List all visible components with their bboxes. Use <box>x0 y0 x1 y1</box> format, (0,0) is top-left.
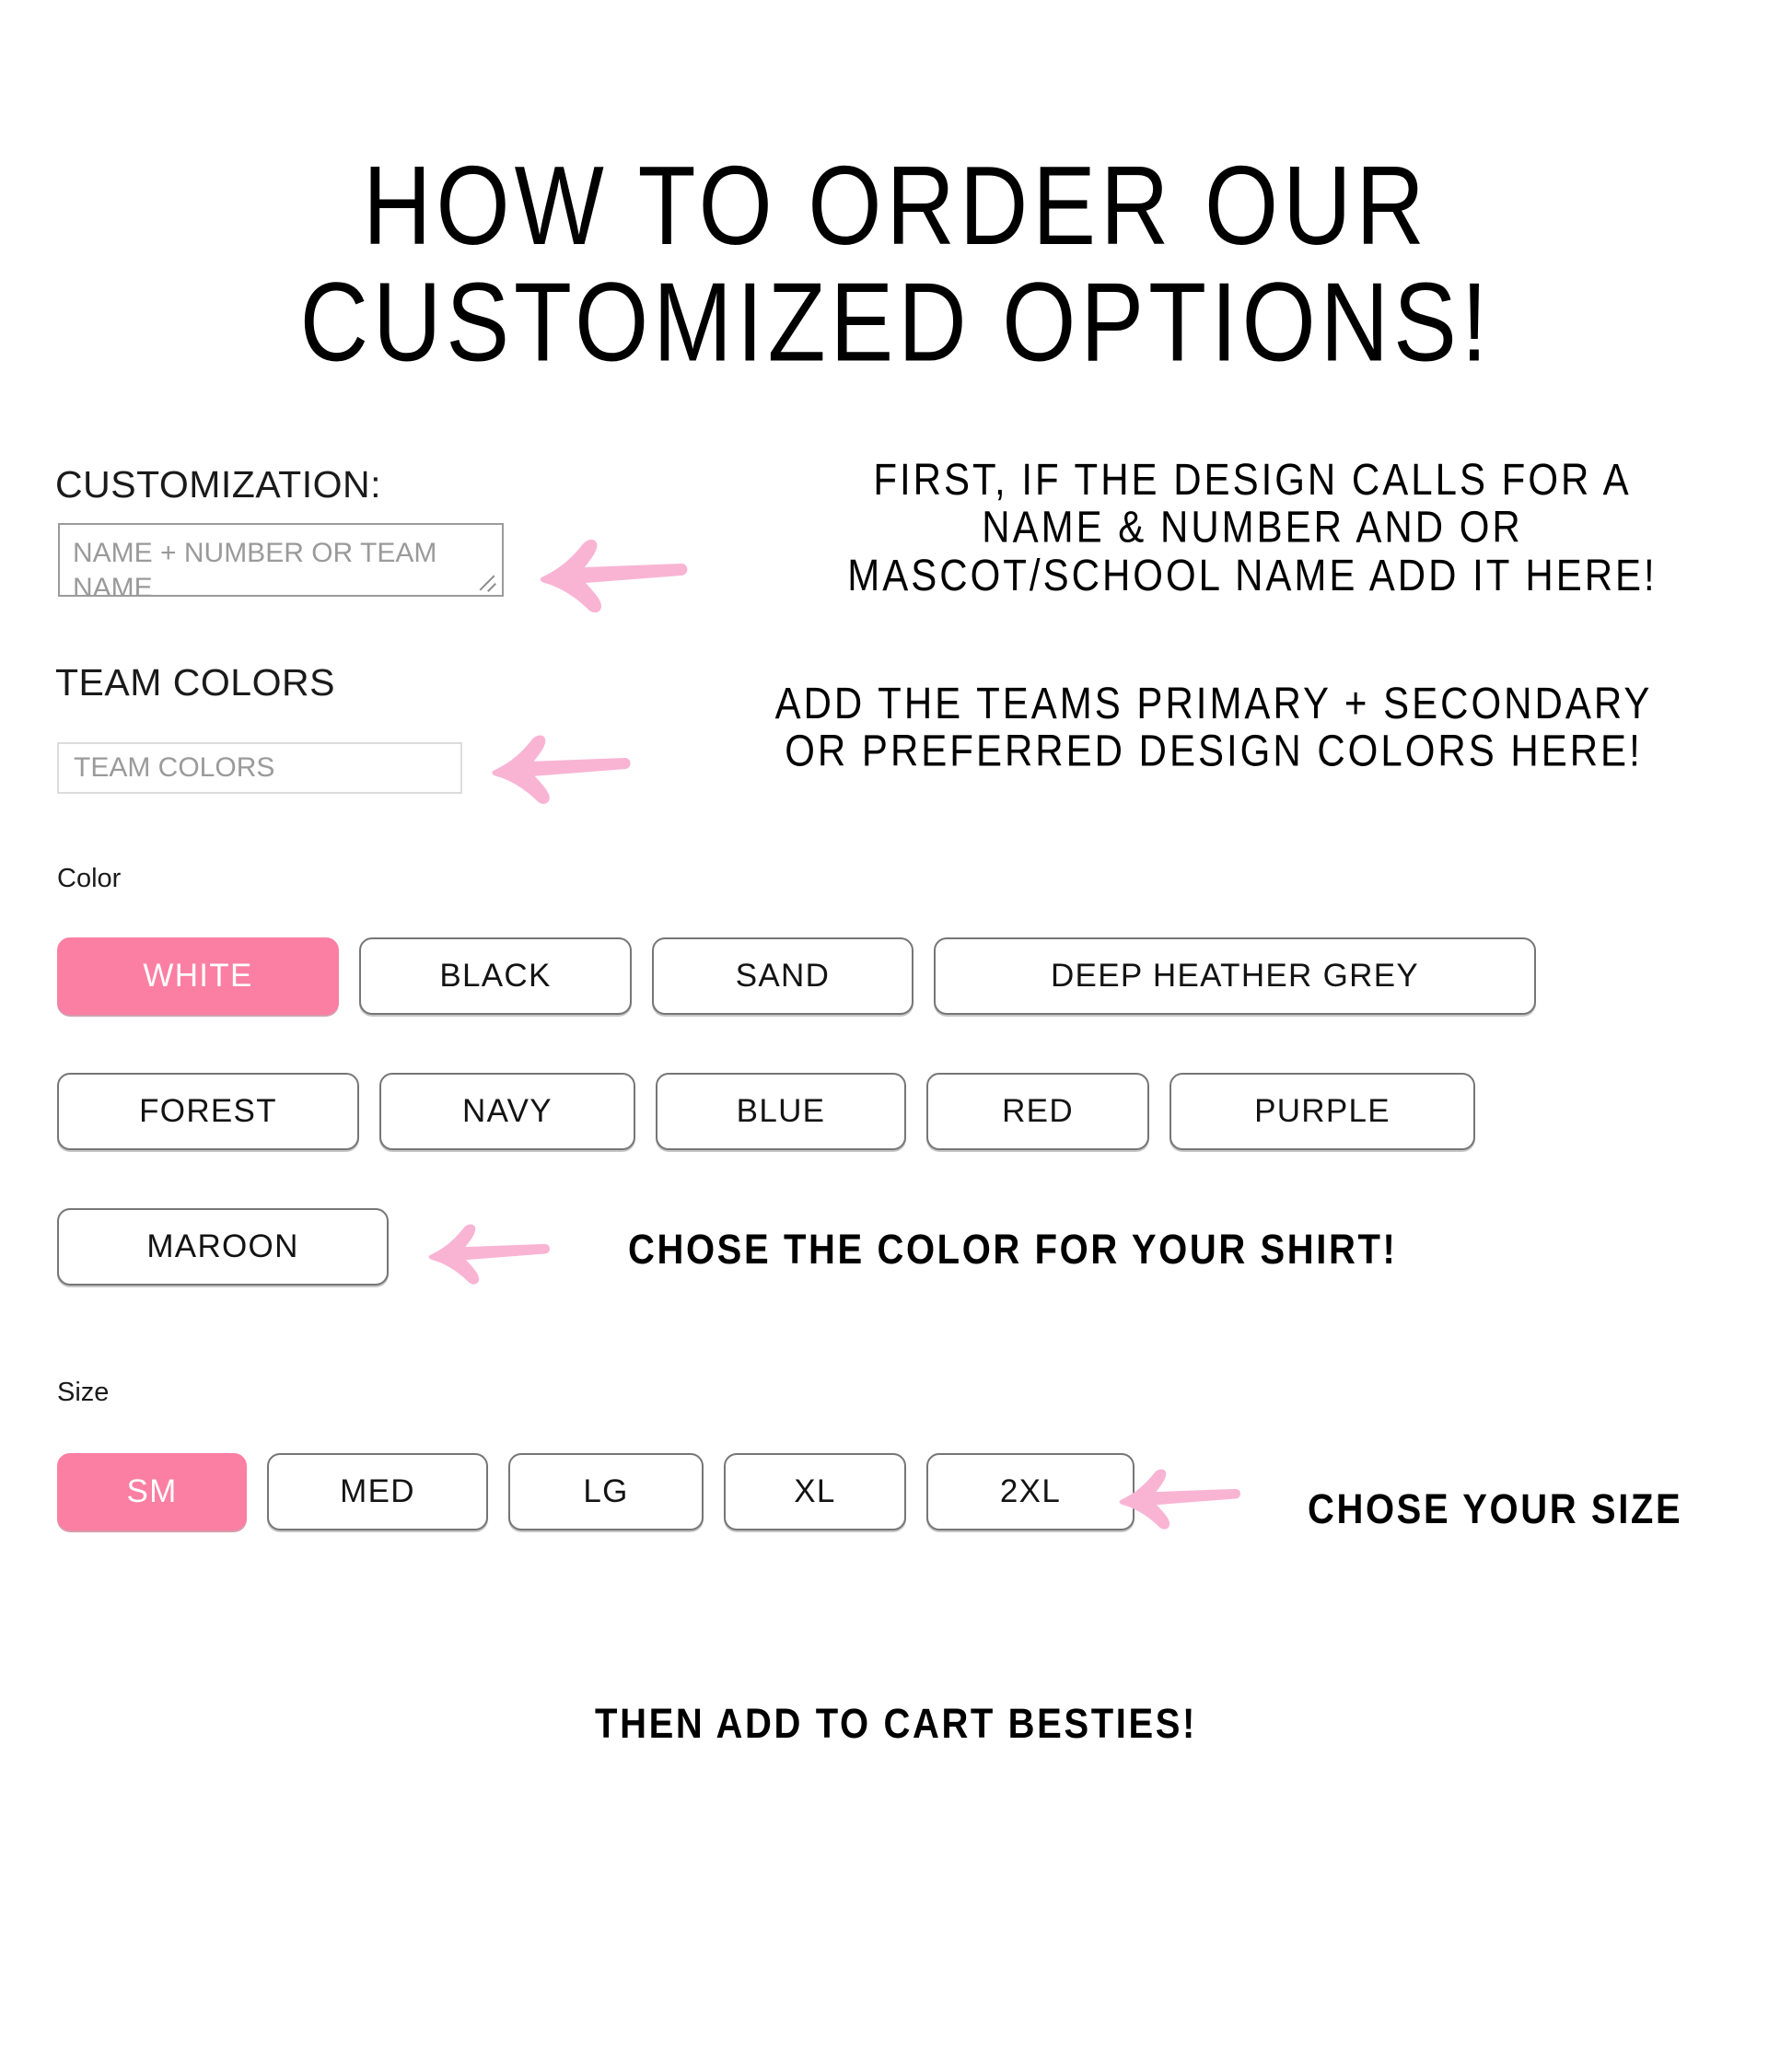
size-annotation: CHOSE YOUR SIZE <box>1308 1487 1682 1532</box>
color-option-maroon[interactable]: MAROON <box>57 1208 389 1286</box>
footer-call-to-action: THEN ADD TO CART BESTIES! <box>0 1702 1792 1747</box>
color-option-blue[interactable]: BLUE <box>656 1073 906 1150</box>
customization-annotation-line-2: NAME & NUMBER AND OR <box>727 504 1777 552</box>
team-colors-annotation-line-2: OR PREFERRED DESIGN COLORS HERE! <box>635 727 1792 775</box>
team-colors-input-placeholder: TEAM COLORS <box>74 752 274 784</box>
color-option-sand[interactable]: SAND <box>652 937 913 1015</box>
customization-annotation-line-3: MASCOT/SCHOOL NAME ADD IT HERE! <box>727 551 1777 599</box>
customization-annotation-line-1: FIRST, IF THE DESIGN CALLS FOR A <box>727 456 1777 504</box>
page-title-line-1: HOW TO ORDER OUR <box>0 147 1792 263</box>
page-title: HOW TO ORDER OUR CUSTOMIZED OPTIONS! <box>0 147 1792 380</box>
customization-textarea[interactable]: NAME + NUMBER OR TEAM NAME <box>58 523 504 597</box>
color-option-black[interactable]: BLACK <box>359 937 632 1015</box>
team-colors-input[interactable]: TEAM COLORS <box>57 742 462 794</box>
size-options-row: SM MED LG XL 2XL <box>57 1453 1135 1530</box>
size-option-med[interactable]: MED <box>267 1453 488 1530</box>
color-option-purple[interactable]: PURPLE <box>1169 1073 1475 1150</box>
customization-label: CUSTOMIZATION: <box>55 463 381 506</box>
arrow-to-color-options-icon <box>424 1217 553 1295</box>
color-annotation: CHOSE THE COLOR FOR YOUR SHIRT! <box>628 1228 1397 1273</box>
color-options-row-3: MAROON <box>57 1208 389 1286</box>
color-options-row-2: FOREST NAVY BLUE RED PURPLE <box>57 1073 1475 1150</box>
size-section-label: Size <box>57 1378 109 1408</box>
team-colors-label: TEAM COLORS <box>55 661 335 704</box>
color-option-navy[interactable]: NAVY <box>379 1073 635 1150</box>
color-options-row-1: WHITE BLACK SAND DEEP HEATHER GREY <box>57 937 1536 1015</box>
color-option-white[interactable]: WHITE <box>57 937 339 1015</box>
size-option-xl[interactable]: XL <box>724 1453 906 1530</box>
how-to-order-infographic: HOW TO ORDER OUR CUSTOMIZED OPTIONS! CUS… <box>0 0 1792 2048</box>
size-option-2xl[interactable]: 2XL <box>926 1453 1135 1530</box>
customization-annotation: FIRST, IF THE DESIGN CALLS FOR A NAME & … <box>727 456 1777 599</box>
size-option-lg[interactable]: LG <box>508 1453 704 1530</box>
size-option-sm[interactable]: SM <box>57 1453 247 1530</box>
customization-textarea-placeholder: NAME + NUMBER OR TEAM NAME <box>73 538 436 597</box>
color-option-forest[interactable]: FOREST <box>57 1073 359 1150</box>
textarea-resize-grip-icon[interactable] <box>477 571 497 591</box>
arrow-to-customization-icon <box>534 532 691 624</box>
arrow-to-team-colors-icon <box>486 727 634 816</box>
team-colors-annotation: ADD THE TEAMS PRIMARY + SECONDARY OR PRE… <box>635 680 1792 774</box>
team-colors-annotation-line-1: ADD THE TEAMS PRIMARY + SECONDARY <box>635 680 1792 727</box>
color-option-red[interactable]: RED <box>926 1073 1149 1150</box>
color-option-deep-heather-grey[interactable]: DEEP HEATHER GREY <box>934 937 1536 1015</box>
color-section-label: Color <box>57 864 121 894</box>
page-title-line-2: CUSTOMIZED OPTIONS! <box>0 263 1792 379</box>
